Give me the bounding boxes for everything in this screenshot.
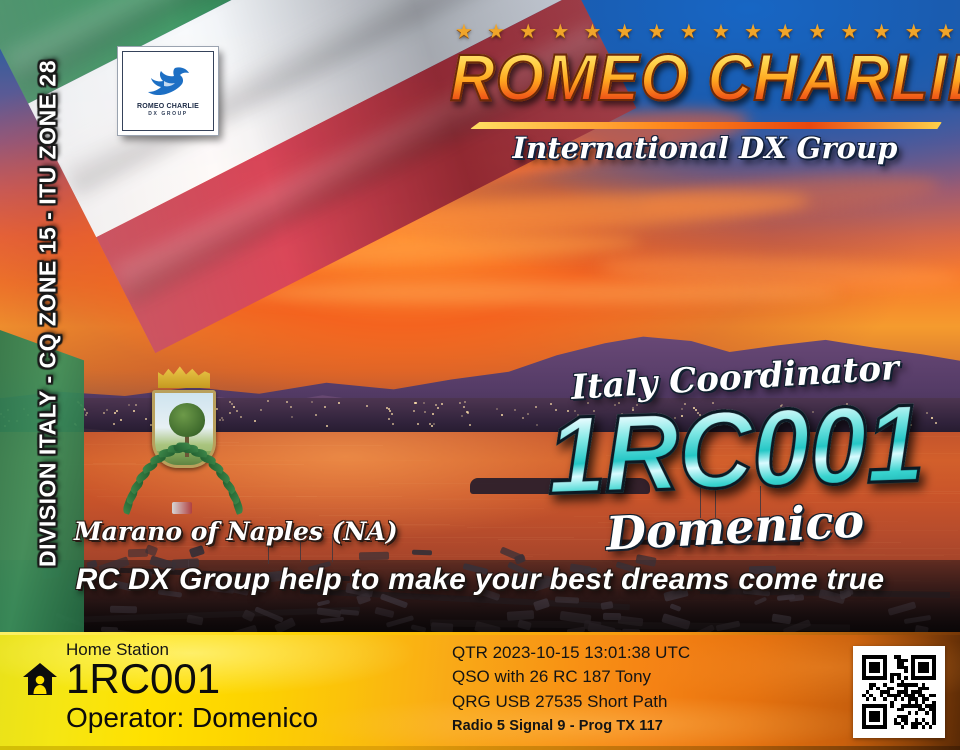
page-subtitle: International DX Group: [450, 131, 960, 165]
ripple: [319, 515, 390, 516]
star-icon: ★: [551, 22, 569, 42]
club-logo-box: ROMEO CHARLIE DX GROUP: [118, 47, 218, 135]
qr-code-icon[interactable]: [853, 646, 945, 738]
crown-icon: [158, 364, 210, 388]
qso-with: QSO with 26 RC 187 Tony: [452, 665, 690, 689]
footer-top-edge: [0, 632, 960, 635]
dove-icon: [145, 65, 191, 103]
home-callsign: 1RC001: [66, 658, 220, 700]
cloud: [240, 282, 840, 304]
city-light: [326, 425, 328, 427]
star-icon: ★: [712, 22, 730, 42]
qsl-card: DIVISION ITALY - CQ ZONE 15 - ITU ZONE 2…: [0, 0, 960, 750]
city-light: [424, 411, 426, 413]
laurel-branch-right: [182, 424, 248, 516]
city-light: [286, 401, 288, 403]
city-light: [324, 406, 326, 408]
qso-qrg: QRG USB 27535 Short Path: [452, 690, 690, 714]
club-logo-inner: ROMEO CHARLIE DX GROUP: [122, 51, 214, 131]
city-light: [431, 425, 433, 427]
star-icon: ★: [744, 22, 762, 42]
star-icon: ★: [841, 22, 859, 42]
title-underline-bar: [470, 122, 942, 129]
photo-bottom-fade: [0, 600, 960, 634]
city-light: [441, 403, 443, 405]
coat-of-arms: [112, 362, 254, 522]
city-light: [423, 402, 425, 404]
city-light: [391, 413, 393, 415]
star-icon: ★: [873, 22, 891, 42]
ripple: [245, 508, 544, 509]
qr-code-grid: [862, 655, 936, 729]
city-light: [389, 410, 391, 412]
city-light: [291, 416, 293, 418]
city-light: [469, 424, 471, 426]
city-light: [388, 418, 390, 420]
star-icon: ★: [776, 22, 794, 42]
laurel-ribbon: [172, 502, 192, 514]
city-light: [461, 415, 463, 417]
qso-details-block: QTR 2023-10-15 13:01:38 UTC QSO with 26 …: [452, 641, 690, 737]
city-light: [459, 402, 461, 404]
star-icon: ★: [487, 22, 505, 42]
ripple: [817, 555, 944, 556]
star-icon: ★: [455, 22, 473, 42]
city-light: [413, 410, 415, 412]
city-light: [267, 400, 269, 402]
division-zone-side-text: DIVISION ITALY - CQ ZONE 15 - ITU ZONE 2…: [35, 14, 62, 614]
qso-report: Radio 5 Signal 9 - Prog TX 117: [452, 716, 690, 737]
star-icon: ★: [680, 22, 698, 42]
city-light: [496, 408, 498, 410]
star-icon: ★: [905, 22, 923, 42]
city-light: [366, 405, 368, 407]
city-light: [464, 401, 466, 403]
city-light: [260, 409, 262, 411]
city-light: [103, 412, 105, 414]
city-light: [432, 413, 434, 415]
city-label: Marano of Naples (NA): [74, 517, 398, 546]
star-icon: ★: [937, 22, 955, 42]
ripple: [281, 556, 533, 557]
city-light: [437, 407, 439, 409]
city-light: [501, 414, 503, 416]
club-logo-name: ROMEO CHARLIE: [137, 103, 199, 110]
city-light: [85, 414, 87, 416]
city-light: [254, 420, 256, 422]
ripple: [223, 460, 431, 461]
city-light: [433, 423, 435, 425]
star-icon: ★: [808, 22, 826, 42]
city-light: [417, 423, 419, 425]
star-icon: ★: [584, 22, 602, 42]
city-light: [311, 401, 313, 403]
city-light: [414, 402, 416, 404]
city-light: [315, 414, 317, 416]
home-icon: [22, 662, 58, 696]
city-light: [392, 423, 394, 425]
home-station-block: Home Station 1RC001 Operator: Domenico: [22, 640, 318, 734]
star-row: ★★★★★★★★★★★★★★★★: [455, 22, 955, 42]
club-logo-sub: DX GROUP: [148, 111, 187, 117]
boat: [359, 552, 389, 561]
ripple: [245, 498, 502, 499]
qso-qtr: QTR 2023-10-15 13:01:38 UTC: [452, 641, 690, 665]
page-title: ROMEO CHARLIE: [450, 46, 960, 112]
star-icon: ★: [616, 22, 634, 42]
star-icon: ★: [648, 22, 666, 42]
operator-line: Operator: Domenico: [66, 702, 318, 734]
city-light: [106, 409, 108, 411]
tagline: RC DX Group help to make your best dream…: [0, 563, 960, 597]
ripple: [238, 486, 379, 487]
footer-bottom-edge: [0, 746, 960, 750]
footer-bar: Home Station 1RC001 Operator: Domenico Q…: [0, 632, 960, 750]
star-icon: ★: [519, 22, 537, 42]
home-callsign-row: 1RC001: [22, 658, 318, 700]
city-light: [338, 402, 340, 404]
city-light: [290, 406, 292, 408]
city-light: [463, 406, 465, 408]
qr-cell: [932, 725, 936, 729]
city-light: [467, 412, 469, 414]
